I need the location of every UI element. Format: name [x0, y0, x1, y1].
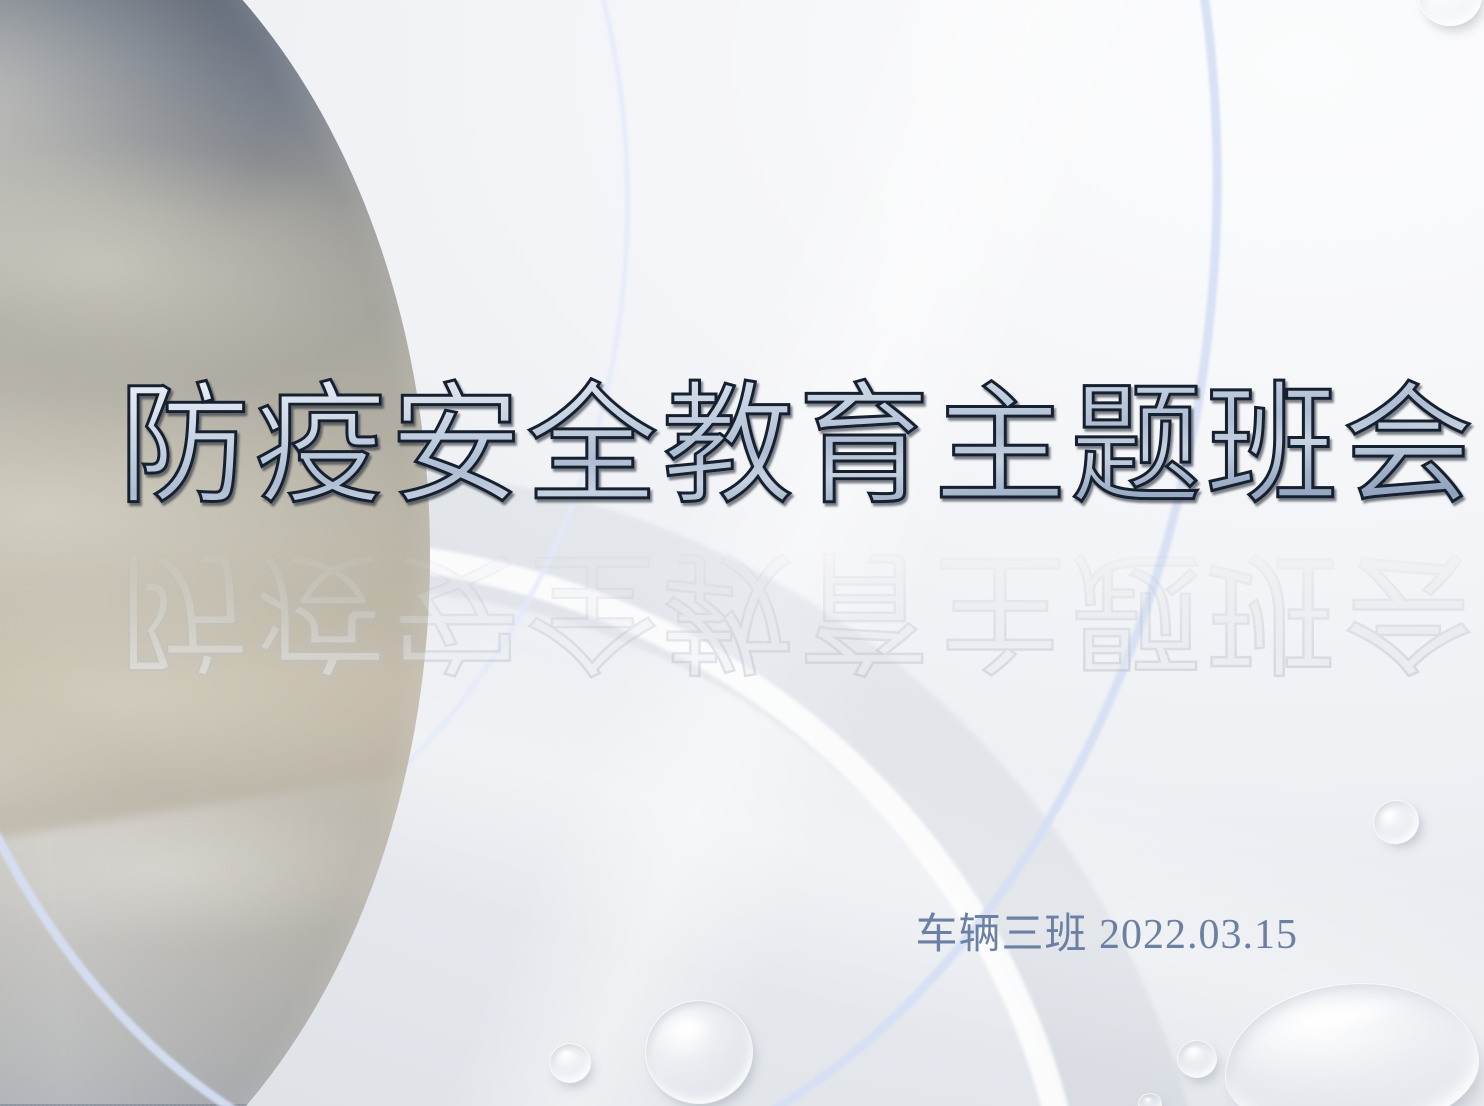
droplet-right-mid-small [1177, 1040, 1217, 1078]
slide-title: 防疫安全教育主题班会 [118, 372, 1478, 522]
droplet-top-right-partial [1418, 0, 1482, 26]
droplet-bottom-center-small [549, 1043, 591, 1083]
droplet-blob-bottom-right [1225, 983, 1479, 1106]
slide-title-reflection: 防疫安全教育主题班会 [118, 534, 1478, 684]
droplet-right-tiny [1138, 1093, 1162, 1106]
title-group: 防疫安全教育主题班会 防疫安全教育主题班会 [118, 372, 1478, 712]
droplet-bottom-center-large [645, 1000, 753, 1104]
presentation-slide: 防疫安全教育主题班会 防疫安全教育主题班会 车辆三班 2022.03.15 [0, 0, 1484, 1106]
slide-subtitle: 车辆三班 2022.03.15 [915, 908, 1298, 962]
droplet-right-upper [1367, 794, 1424, 850]
